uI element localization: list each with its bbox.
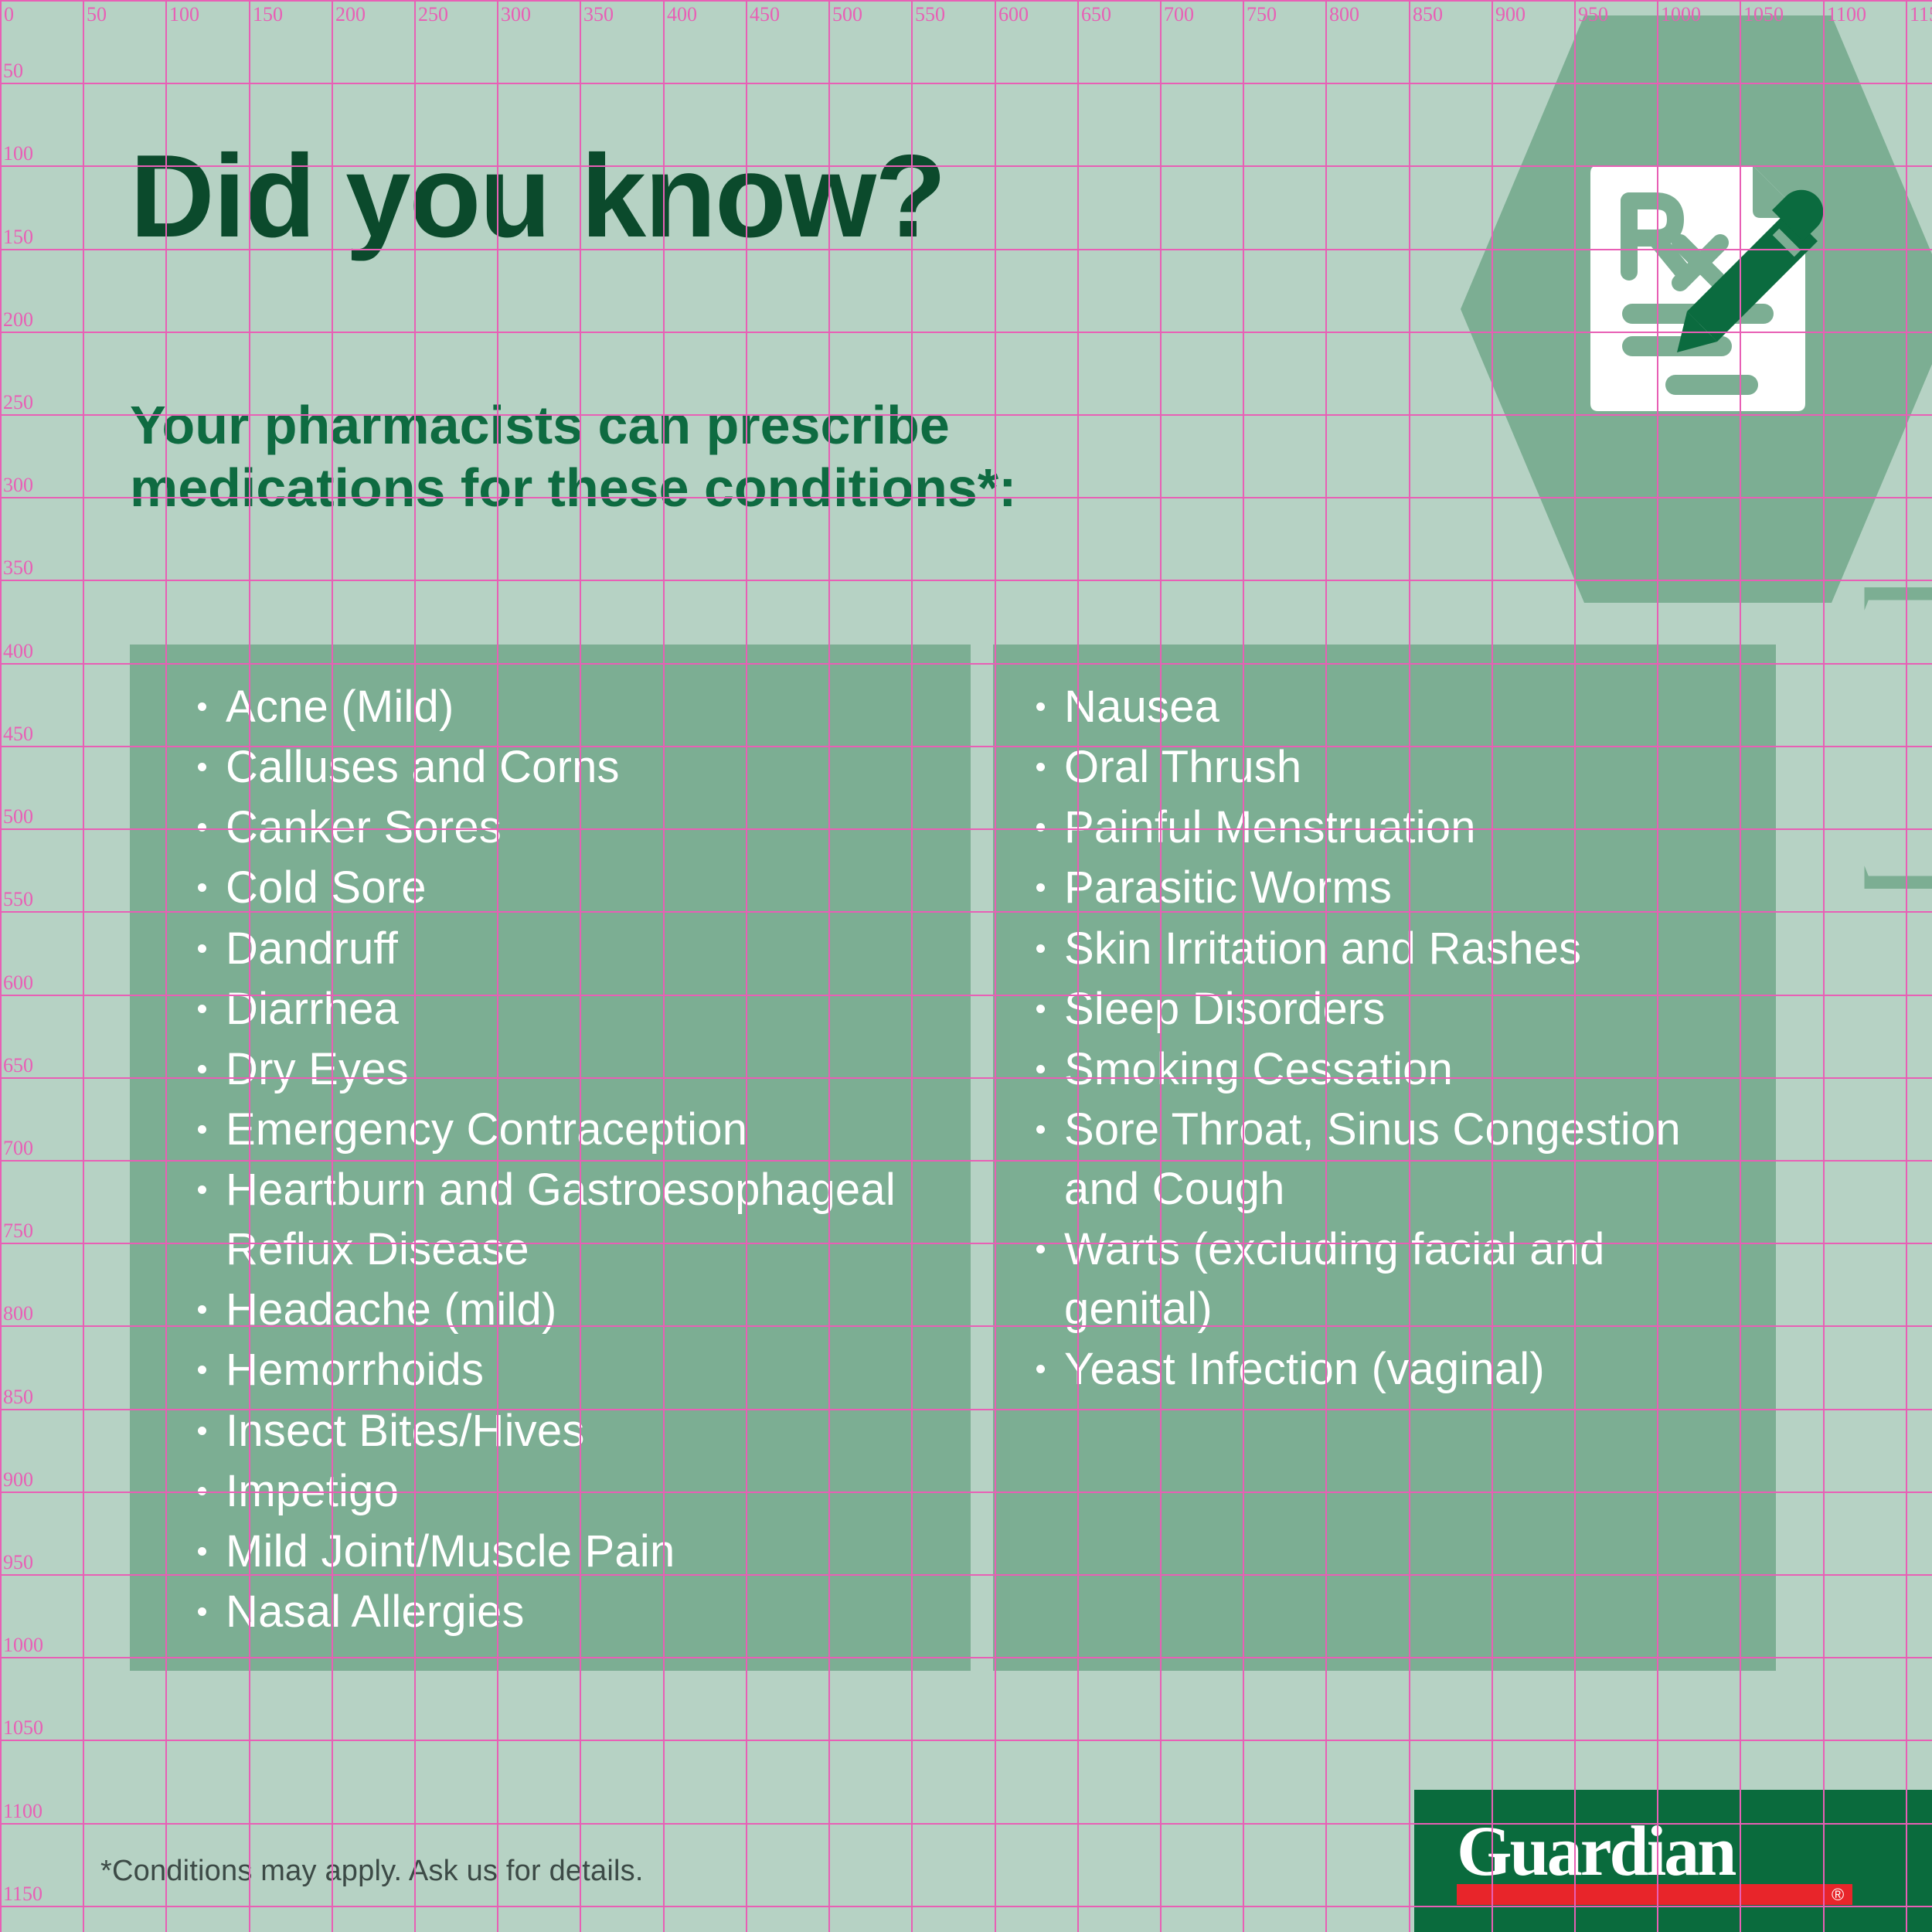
grid-label-x: 50: [87, 3, 107, 26]
grid-label-y: 900: [3, 1468, 33, 1492]
grid-label-x: 800: [1329, 3, 1359, 26]
condition-item: Nausea: [1032, 677, 1745, 736]
grid-label-y: 550: [3, 888, 33, 911]
grid-label-y: 850: [3, 1386, 33, 1409]
grid-label-y: 1000: [3, 1634, 43, 1657]
condition-item: Insect Bites/Hives: [193, 1401, 940, 1461]
condition-item: Headache (mild): [193, 1280, 940, 1339]
grid-label-x: 250: [418, 3, 448, 26]
grid-line-vertical: [83, 0, 84, 1932]
grid-label-y: 600: [3, 971, 33, 995]
guardian-red-underline: [1457, 1884, 1852, 1905]
grid-label-y: 800: [3, 1302, 33, 1325]
conditions-panel-left: Acne (Mild)Calluses and CornsCanker Sore…: [130, 645, 971, 1671]
guardian-wordmark: Guardian: [1457, 1810, 1734, 1892]
page-subtitle: Your pharmacists can prescribe medicatio…: [130, 394, 1289, 519]
condition-item: Emergency Contraception: [193, 1100, 940, 1159]
grid-label-y: 150: [3, 226, 33, 249]
condition-item: Oral Thrush: [1032, 737, 1745, 797]
grid-label-x: 0: [4, 3, 14, 26]
grid-label-y: 500: [3, 805, 33, 828]
grid-label-x: 450: [750, 3, 780, 26]
grid-line-horizontal: [0, 1740, 1932, 1741]
grid-label-y: 1050: [3, 1716, 43, 1740]
grid-label-x: 500: [832, 3, 862, 26]
grid-label-y: 50: [3, 60, 23, 83]
condition-item: Skin Irritation and Rashes: [1032, 919, 1745, 978]
condition-item: Mild Joint/Muscle Pain: [193, 1522, 940, 1581]
rx-document-pencil-icon: [1584, 162, 1839, 417]
subtitle-line-2: medications for these conditions*:: [130, 457, 1016, 518]
grid-label-y: 250: [3, 391, 33, 414]
grid-label-x: 100: [169, 3, 199, 26]
grid-label-y: 400: [3, 640, 33, 663]
guardian-logo: Guardian ®: [1414, 1790, 1932, 1932]
condition-item: Warts (excluding facial and genital): [1032, 1219, 1745, 1338]
grid-label-x: 900: [1495, 3, 1526, 26]
condition-item: Yeast Infection (vaginal): [1032, 1339, 1745, 1399]
grid-label-x: 1150: [1910, 3, 1932, 26]
condition-item: Acne (Mild): [193, 677, 940, 736]
grid-label-x: 400: [667, 3, 697, 26]
condition-item: Diarrhea: [193, 979, 940, 1039]
condition-item: Heartburn and Gastroesophageal Reflux Di…: [193, 1160, 940, 1279]
condition-item: Parasitic Worms: [1032, 858, 1745, 917]
grid-label-x: 850: [1413, 3, 1443, 26]
grid-label-x: 650: [1081, 3, 1111, 26]
page-title: Did you know?: [130, 138, 945, 255]
registered-trademark-icon: ®: [1832, 1886, 1844, 1904]
grid-label-y: 300: [3, 474, 33, 497]
grid-label-x: 200: [335, 3, 366, 26]
poster-canvas: Did you know? Your pharmacists can presc…: [0, 0, 1932, 1932]
grid-label-x: 600: [998, 3, 1029, 26]
condition-item: Nasal Allergies: [193, 1582, 940, 1641]
grid-label-y: 350: [3, 556, 33, 580]
condition-item: Sleep Disorders: [1032, 979, 1745, 1039]
grid-label-x: 350: [583, 3, 614, 26]
grid-label-y: 700: [3, 1137, 33, 1160]
grid-label-x: 550: [915, 3, 945, 26]
conditions-list-right: NauseaOral ThrushPainful MenstruationPar…: [993, 645, 1776, 1400]
condition-item: Calluses and Corns: [193, 737, 940, 797]
conditions-list-left: Acne (Mild)Calluses and CornsCanker Sore…: [130, 645, 971, 1641]
grid-label-y: 450: [3, 723, 33, 746]
hexagon-outline-icon: [1801, 587, 1932, 889]
grid-label-x: 700: [1164, 3, 1194, 26]
grid-label-x: 300: [501, 3, 531, 26]
condition-item: Hemorrhoids: [193, 1340, 940, 1400]
condition-item: Smoking Cessation: [1032, 1039, 1745, 1099]
grid-label-y: 950: [3, 1551, 33, 1574]
condition-item: Painful Menstruation: [1032, 798, 1745, 857]
grid-label-y: 1100: [3, 1800, 43, 1823]
grid-label-y: 1150: [3, 1883, 43, 1906]
grid-line-horizontal: [0, 0, 1932, 2]
conditions-panel-right: NauseaOral ThrushPainful MenstruationPar…: [993, 645, 1776, 1671]
footnote-text: *Conditions may apply. Ask us for detail…: [100, 1855, 644, 1888]
condition-item: Dry Eyes: [193, 1039, 940, 1099]
subtitle-line-1: Your pharmacists can prescribe: [130, 395, 950, 455]
condition-item: Impetigo: [193, 1461, 940, 1521]
condition-item: Dandruff: [193, 919, 940, 978]
grid-label-y: 650: [3, 1054, 33, 1077]
condition-item: Canker Sores: [193, 798, 940, 857]
grid-label-x: 150: [253, 3, 283, 26]
grid-label-y: 750: [3, 1219, 33, 1243]
condition-item: Cold Sore: [193, 858, 940, 917]
grid-label-y: 200: [3, 308, 33, 332]
condition-item: Sore Throat, Sinus Congestion and Cough: [1032, 1100, 1745, 1219]
grid-label-x: 750: [1247, 3, 1277, 26]
grid-label-y: 100: [3, 142, 33, 165]
grid-line-vertical: [0, 0, 2, 1932]
